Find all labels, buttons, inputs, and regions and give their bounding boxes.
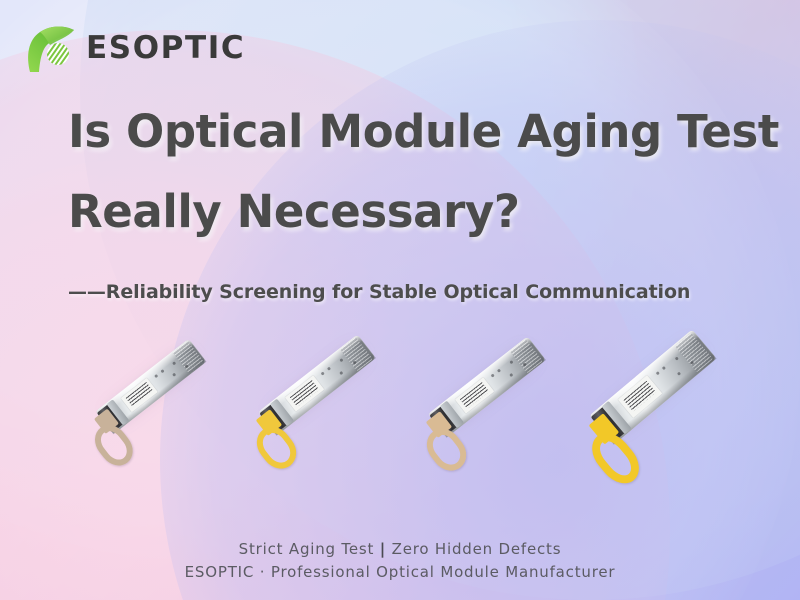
footer-tagline-part-1: Strict Aging Test [239, 540, 375, 558]
footer: Strict Aging Test | Zero Hidden Defects … [0, 538, 800, 585]
footer-separator: | [380, 540, 386, 558]
footer-tagline-part-2: Zero Hidden Defects [392, 540, 562, 558]
subtitle: ——Reliability Screening for Stable Optic… [68, 281, 690, 303]
page-title: Is Optical Module Aging Test Really Nece… [68, 108, 758, 235]
module-body-group [428, 336, 546, 437]
qsfp-module-1 [96, 339, 207, 435]
banner-canvas: ESOPTIC Is Optical Module Aging Test Rea… [0, 0, 800, 600]
footer-company-line: ESOPTIC · Professional Optical Module Ma… [0, 561, 800, 584]
qsfp-dd-module-4 [589, 329, 716, 444]
headline-line-1: Is Optical Module Aging Test [68, 108, 758, 156]
headline-line-2: Really Necessary? [68, 188, 758, 236]
brand-logo: ESOPTIC [22, 20, 245, 76]
module-body-group [96, 339, 207, 435]
footer-tagline: Strict Aging Test | Zero Hidden Defects [0, 538, 800, 561]
esoptic-leaf-logo-icon [22, 20, 80, 76]
module-body-group [589, 329, 716, 444]
module-body-group [258, 334, 376, 435]
qsfp-module-3 [428, 336, 546, 437]
qsfp-module-2 [258, 334, 376, 435]
brand-wordmark: ESOPTIC [86, 33, 245, 64]
